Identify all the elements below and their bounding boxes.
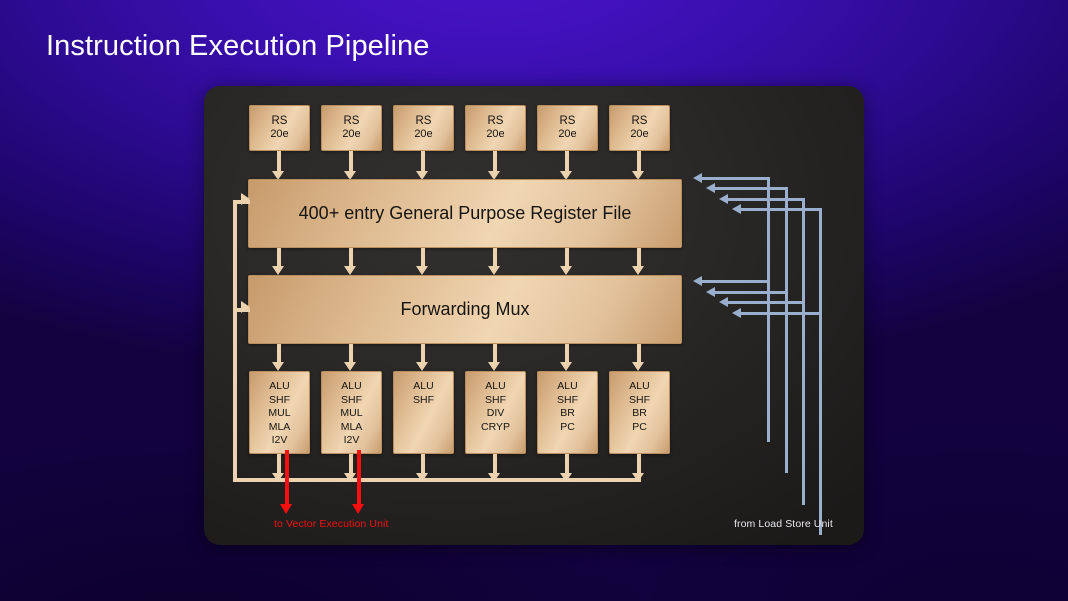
- eu-op: PC: [560, 421, 575, 435]
- pipeline-diagram-panel: RS 20e RS 20e RS 20e RS 20e RS 20e RS 20…: [204, 86, 864, 545]
- eu-op: ALU: [413, 380, 433, 394]
- execution-unit-4: ALU SHF BR PC: [537, 371, 598, 454]
- rs-entries: 20e: [270, 128, 288, 141]
- slide-canvas: Instruction Execution Pipeline RS 20e RS…: [0, 0, 1068, 601]
- connector-mux-alu-5: [637, 344, 641, 363]
- vector-line-1: [357, 450, 361, 507]
- arrowhead-feedback-regfile: [241, 193, 250, 205]
- eu-op: SHF: [557, 394, 578, 408]
- arrowhead-lsu-mux-3: [732, 308, 741, 318]
- arrowhead-regfile-mux-5: [632, 266, 644, 275]
- eu-op: CRYP: [481, 421, 510, 435]
- connector-rs0-regfile: [277, 151, 281, 172]
- lsu-vertical-1: [785, 187, 788, 473]
- eu-op: ALU: [557, 380, 577, 394]
- arrowhead-feedback-mux: [241, 301, 250, 313]
- connector-mux-alu-4: [565, 344, 569, 363]
- general-purpose-register-file: 400+ entry General Purpose Register File: [248, 179, 682, 248]
- arrowhead-lsu-rf-3: [732, 204, 741, 214]
- arrowhead-regfile-mux-4: [560, 266, 572, 275]
- eu-op: SHF: [413, 394, 434, 408]
- lsu-arrow-rf-3: [740, 208, 822, 211]
- arrowhead-lsu-rf-2: [719, 194, 728, 204]
- forwarding-mux: Forwarding Mux: [248, 275, 682, 344]
- execution-unit-5: ALU SHF BR PC: [609, 371, 670, 454]
- eu-op: SHF: [341, 394, 362, 408]
- eu-op: ALU: [485, 380, 505, 394]
- arrowhead-mux-alu-4: [560, 362, 572, 371]
- reservation-station-0: RS 20e: [249, 105, 310, 151]
- rs-label: RS: [488, 115, 504, 129]
- arrowhead-regfile-mux-0: [272, 266, 284, 275]
- eu-op: MUL: [268, 407, 290, 421]
- lsu-arrow-rf-1: [714, 187, 788, 190]
- arrowhead-mux-alu-3: [488, 362, 500, 371]
- lsu-vertical-3: [819, 208, 822, 535]
- arrowhead-mux-alu-2: [416, 362, 428, 371]
- connector-rs3-regfile: [493, 151, 497, 172]
- rs-entries: 20e: [342, 128, 360, 141]
- arrowhead-mux-alu-0: [272, 362, 284, 371]
- execution-unit-2: ALU SHF: [393, 371, 454, 454]
- rs-label: RS: [560, 115, 576, 129]
- arrowhead-lsu-rf-1: [706, 183, 715, 193]
- lsu-arrow-rf-0: [701, 177, 770, 180]
- eu-op: ALU: [269, 380, 289, 394]
- result-bus: [233, 478, 641, 482]
- rs-label: RS: [632, 115, 648, 129]
- reservation-station-2: RS 20e: [393, 105, 454, 151]
- execution-unit-0: ALU SHF MUL MLA I2V: [249, 371, 310, 454]
- eu-op: MLA: [269, 421, 291, 435]
- vector-line-0: [285, 450, 289, 507]
- connector-mux-alu-3: [493, 344, 497, 363]
- eu-op: MLA: [341, 421, 363, 435]
- lsu-vertical-0: [767, 177, 770, 442]
- connector-rs2-regfile: [421, 151, 425, 172]
- eu-op: ALU: [629, 380, 649, 394]
- eu-op: BR: [632, 407, 647, 421]
- eu-op: SHF: [485, 394, 506, 408]
- vector-execution-unit-label: to Vector Execution Unit: [274, 518, 388, 530]
- eu-op: ALU: [341, 380, 361, 394]
- rs-entries: 20e: [558, 128, 576, 141]
- lsu-arrow-mux-2: [727, 301, 805, 304]
- arrowhead-regfile-mux-2: [416, 266, 428, 275]
- arrowhead-regfile-mux-3: [488, 266, 500, 275]
- connector-regfile-mux-5: [637, 248, 641, 267]
- eu-op: MUL: [340, 407, 362, 421]
- connector-rs4-regfile: [565, 151, 569, 172]
- connector-mux-alu-0: [277, 344, 281, 363]
- connector-regfile-mux-4: [565, 248, 569, 267]
- connector-rs1-regfile: [349, 151, 353, 172]
- reservation-station-5: RS 20e: [609, 105, 670, 151]
- connector-regfile-mux-2: [421, 248, 425, 267]
- arrowhead-lsu-rf-0: [693, 173, 702, 183]
- execution-unit-3: ALU SHF DIV CRYP: [465, 371, 526, 454]
- arrowhead-vector-0: [280, 504, 292, 514]
- rs-label: RS: [416, 115, 432, 129]
- lsu-arrow-rf-2: [727, 198, 805, 201]
- connector-regfile-mux-0: [277, 248, 281, 267]
- connector-mux-alu-2: [421, 344, 425, 363]
- eu-op: BR: [560, 407, 575, 421]
- arrowhead-vector-1: [352, 504, 364, 514]
- rs-label: RS: [272, 115, 288, 129]
- connector-regfile-mux-3: [493, 248, 497, 267]
- lsu-vertical-2: [802, 198, 805, 505]
- rs-entries: 20e: [630, 128, 648, 141]
- reservation-station-1: RS 20e: [321, 105, 382, 151]
- load-store-unit-label: from Load Store Unit: [734, 518, 833, 530]
- connector-mux-alu-1: [349, 344, 353, 363]
- arrowhead-regfile-mux-1: [344, 266, 356, 275]
- connector-rs5-regfile: [637, 151, 641, 172]
- arrowhead-mux-alu-5: [632, 362, 644, 371]
- execution-unit-1: ALU SHF MUL MLA I2V: [321, 371, 382, 454]
- eu-op: SHF: [629, 394, 650, 408]
- rs-entries: 20e: [486, 128, 504, 141]
- eu-op: I2V: [272, 434, 288, 448]
- eu-op: SHF: [269, 394, 290, 408]
- reservation-station-4: RS 20e: [537, 105, 598, 151]
- eu-op: DIV: [487, 407, 505, 421]
- lsu-arrow-mux-3: [740, 312, 822, 315]
- arrowhead-lsu-mux-1: [706, 287, 715, 297]
- lsu-arrow-mux-0: [701, 280, 770, 283]
- arrowhead-mux-alu-1: [344, 362, 356, 371]
- connector-regfile-mux-1: [349, 248, 353, 267]
- feedback-riser: [233, 200, 237, 480]
- arrowhead-lsu-mux-0: [693, 276, 702, 286]
- eu-op: PC: [632, 421, 647, 435]
- page-title: Instruction Execution Pipeline: [46, 26, 429, 66]
- reservation-station-3: RS 20e: [465, 105, 526, 151]
- arrowhead-lsu-mux-2: [719, 297, 728, 307]
- lsu-arrow-mux-1: [714, 291, 788, 294]
- rs-label: RS: [344, 115, 360, 129]
- rs-entries: 20e: [414, 128, 432, 141]
- eu-op: I2V: [344, 434, 360, 448]
